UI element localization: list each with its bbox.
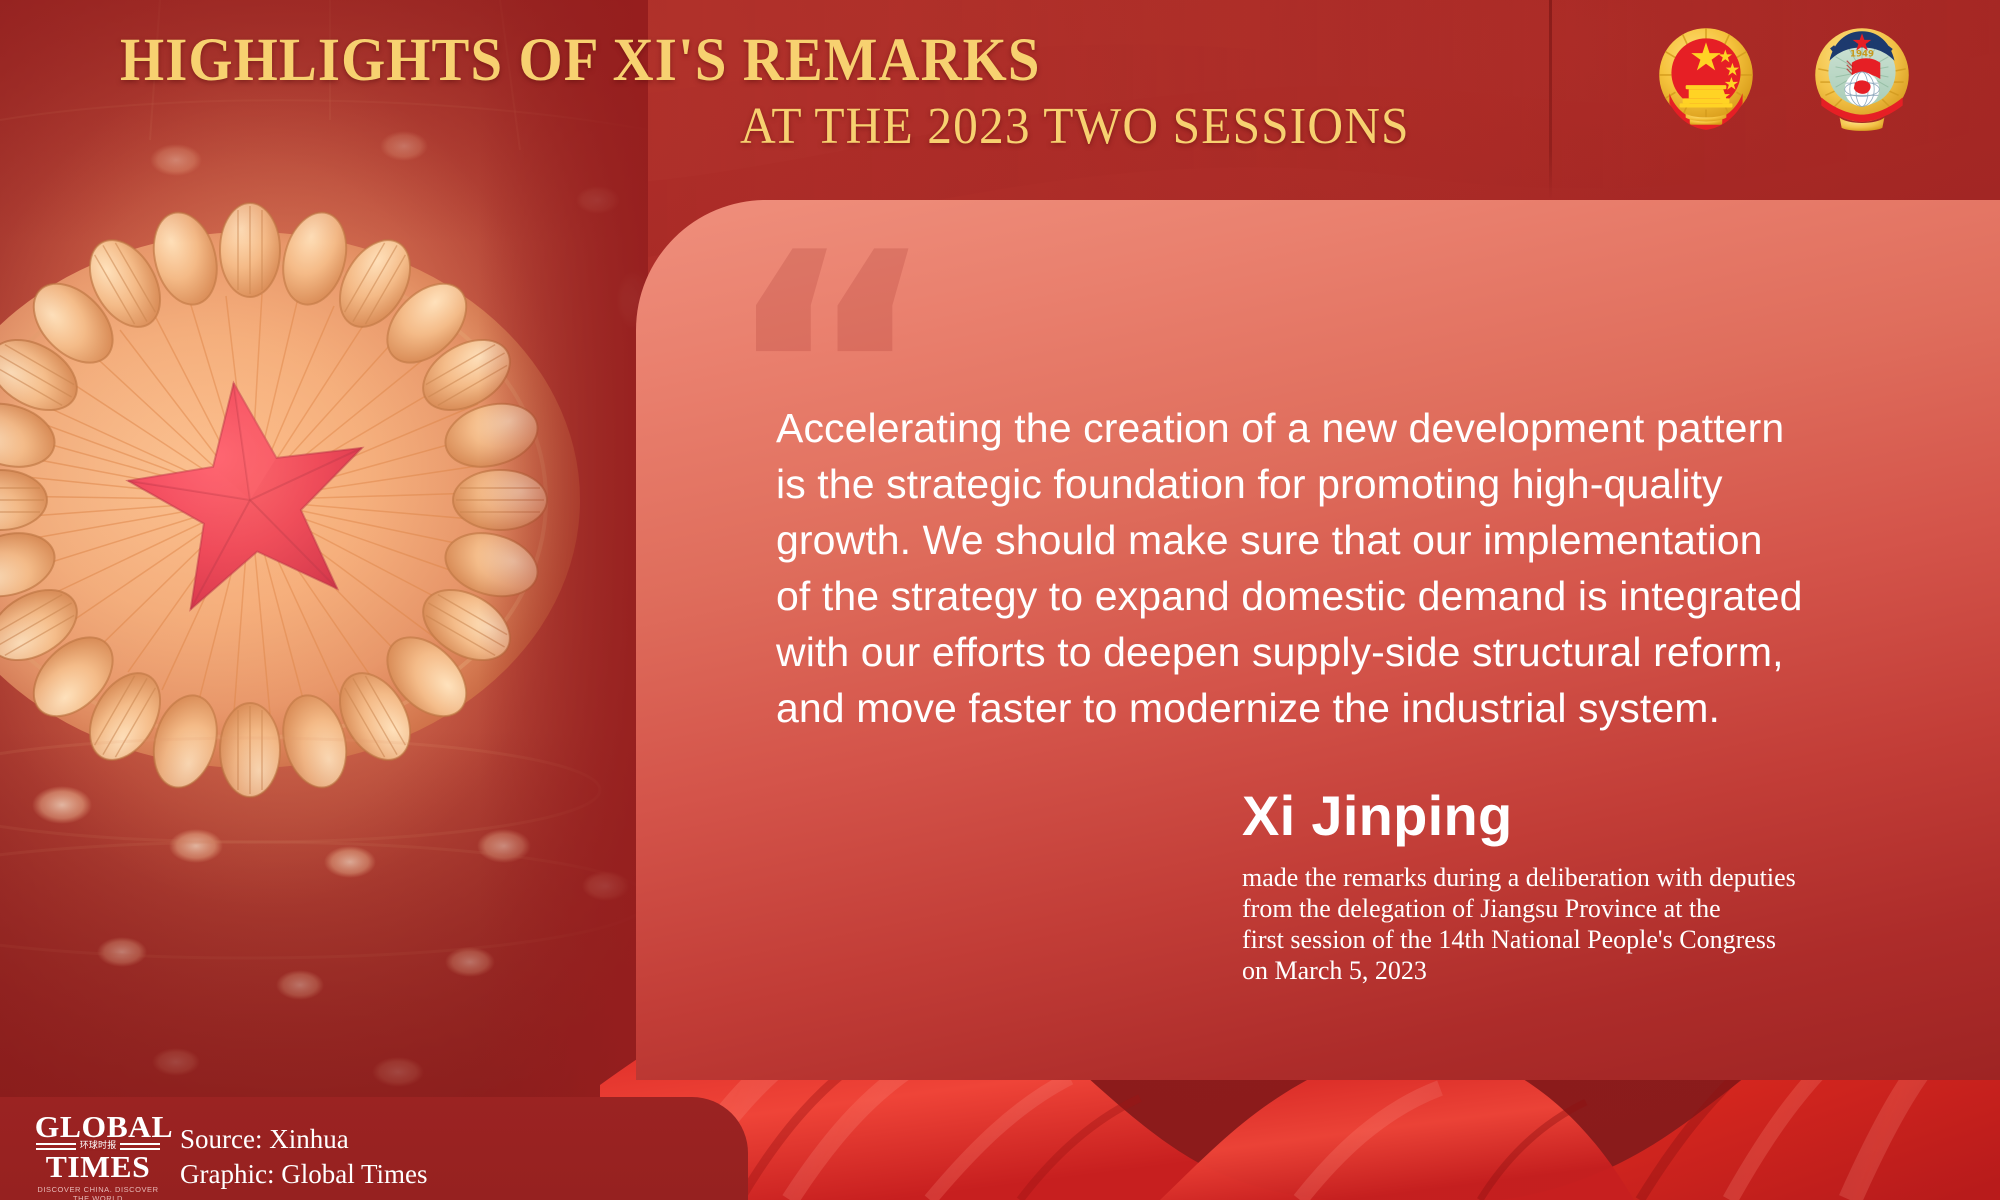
attribution-block: Xi Jinping made the remarks during a del… (1242, 786, 1942, 986)
attribution-line: from the delegation of Jiangsu Province … (1242, 893, 1942, 924)
attribution-line: on March 5, 2023 (1242, 955, 1942, 986)
quote-line: growth. We should make sure that our imp… (776, 512, 1906, 568)
emblem-group: 1949 (1645, 16, 1923, 138)
header-divider (1549, 0, 1552, 200)
footer-band: GLOBAL 环球时报 TIMES DISCOVER CHINA. DISCOV… (0, 1097, 748, 1200)
quote-panel: “ Accelerating the creation of a new dev… (636, 200, 2000, 1080)
page-title-line2: AT THE 2023 TWO SESSIONS (740, 97, 1410, 156)
cppcc-year-label: 1949 (1850, 50, 1874, 60)
credits-block: Source: Xinhua Graphic: Global Times (180, 1122, 428, 1192)
quote-text-block: Accelerating the creation of a new devel… (776, 400, 1906, 736)
attribution-line: made the remarks during a deliberation w… (1242, 862, 1942, 893)
quote-line: Accelerating the creation of a new devel… (776, 400, 1906, 456)
quote-line: and move faster to modernize the industr… (776, 680, 1906, 736)
attribution-line: first session of the 14th National Peopl… (1242, 924, 1942, 955)
attribution-description: made the remarks during a deliberation w… (1242, 862, 1942, 986)
national-emblem-prc-icon (1645, 16, 1767, 138)
infographic-poster: “ Accelerating the creation of a new dev… (0, 0, 2000, 1200)
logo-line-global: GLOBAL (35, 1111, 161, 1142)
speaker-name: Xi Jinping (1242, 786, 1942, 846)
cppcc-emblem-icon: 1949 (1801, 16, 1923, 138)
logo-chinese-name: 环球时报 (76, 1142, 121, 1151)
header: HIGHLIGHTS OF XI'S REMARKS AT THE 2023 T… (0, 0, 2000, 200)
logo-tagline: DISCOVER CHINA. DISCOVER THE WORLD (36, 1185, 160, 1200)
logo-line-times: TIMES (35, 1151, 161, 1182)
quote-line: is the strategic foundation for promotin… (776, 456, 1906, 512)
graphic-credit: Graphic: Global Times (180, 1157, 428, 1192)
source-credit: Source: Xinhua (180, 1122, 428, 1157)
global-times-logo: GLOBAL 环球时报 TIMES DISCOVER CHINA. DISCOV… (36, 1111, 160, 1200)
quote-line: of the strategy to expand domestic deman… (776, 568, 1906, 624)
quote-line: with our efforts to deepen supply-side s… (776, 624, 1906, 680)
page-title-line1: HIGHLIGHTS OF XI'S REMARKS (120, 26, 1041, 96)
